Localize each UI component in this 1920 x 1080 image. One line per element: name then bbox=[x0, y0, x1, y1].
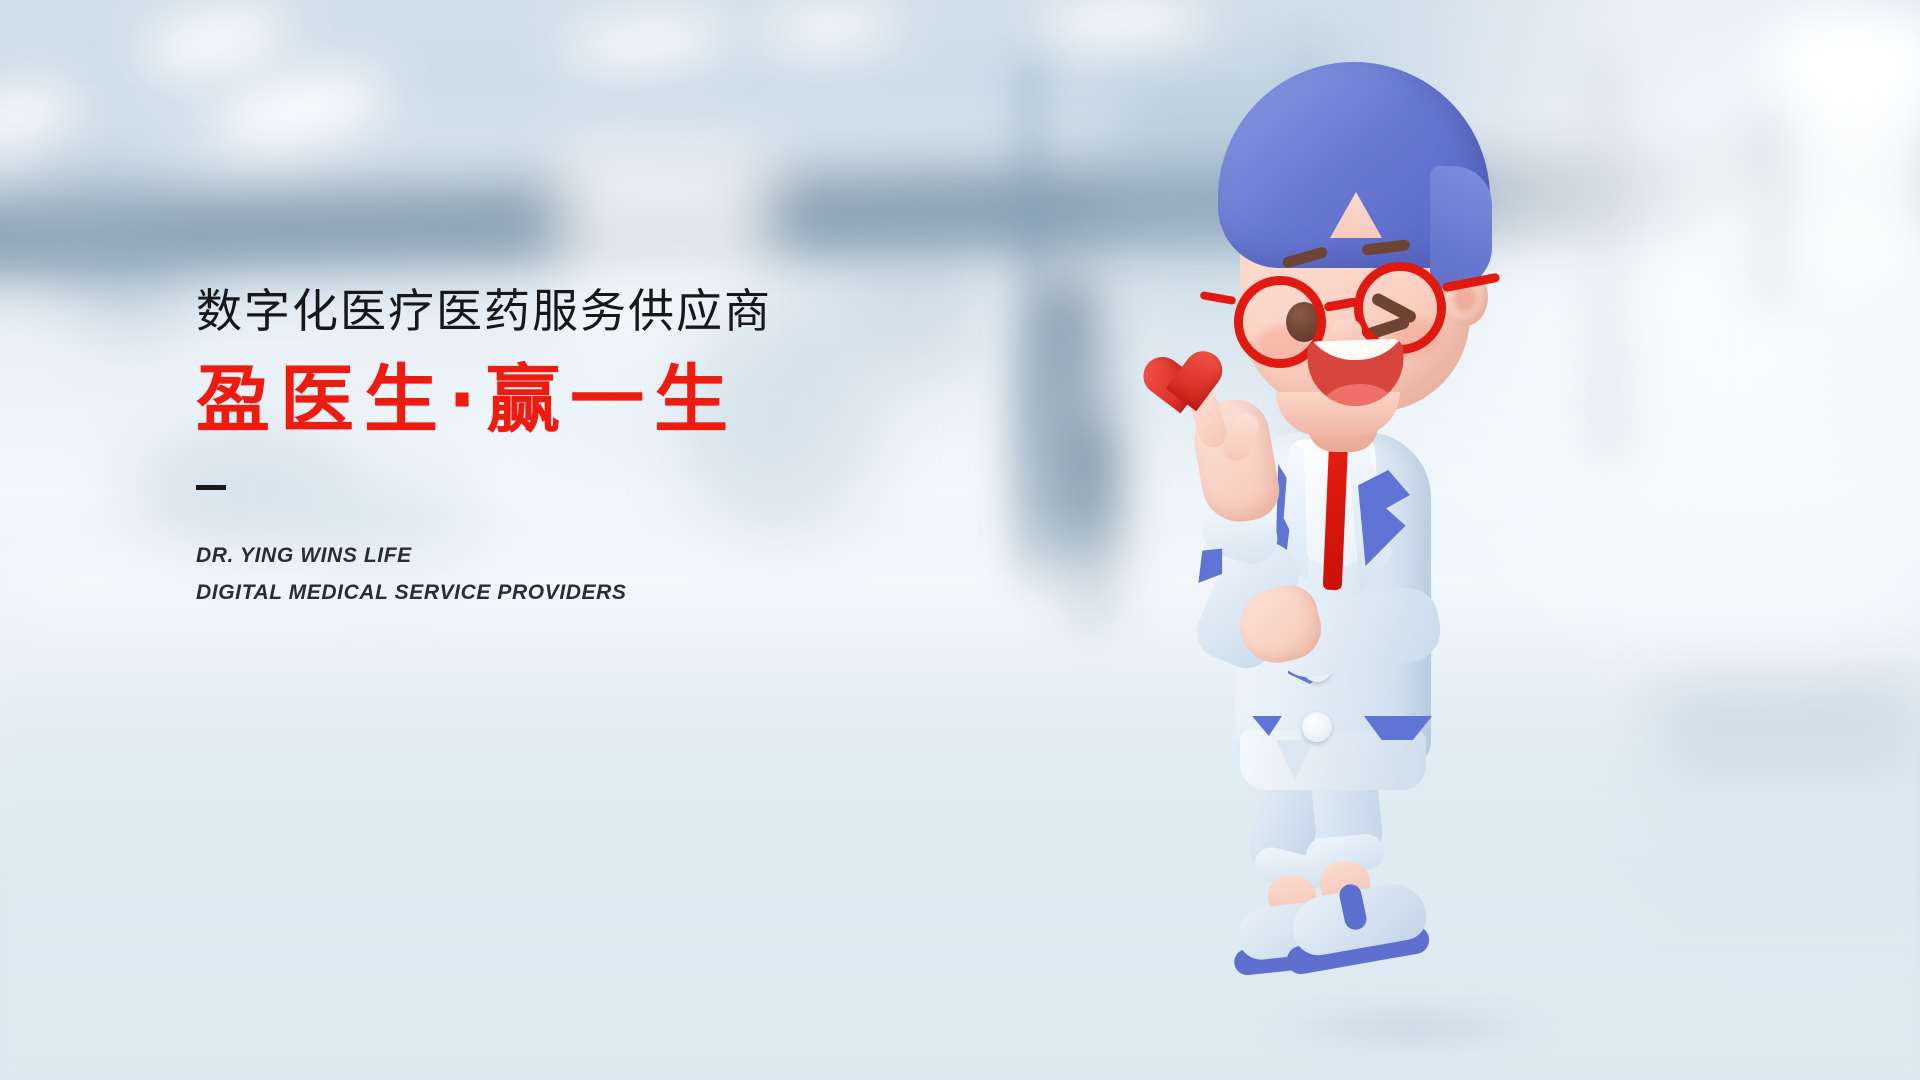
subtitle-en: DR. YING WINS LIFE DIGITAL MEDICAL SERVI… bbox=[196, 538, 1016, 610]
subtitle-line-1: DR. YING WINS LIFE bbox=[196, 538, 1016, 574]
background-person-head bbox=[1044, 258, 1090, 310]
divider-rule bbox=[196, 485, 226, 490]
banner-stage: 数字化医疗医药服务供应商 盈医生·赢一生 DR. YING WINS LIFE … bbox=[0, 0, 1920, 1080]
eyebrow-headline: 数字化医疗医药服务供应商 bbox=[196, 286, 1016, 337]
doctor-mascot bbox=[1180, 40, 1600, 1050]
page-title: 盈医生·赢一生 bbox=[196, 359, 1016, 442]
glasses-temple-right bbox=[1442, 273, 1501, 293]
subtitle-line-2: DIGITAL MEDICAL SERVICE PROVIDERS bbox=[196, 575, 1016, 611]
heart-icon bbox=[1158, 324, 1232, 395]
upper-teeth bbox=[1307, 338, 1405, 362]
copy-block: 数字化医疗医药服务供应商 盈医生·赢一生 DR. YING WINS LIFE … bbox=[196, 286, 1016, 611]
glasses-temple-left bbox=[1200, 291, 1237, 305]
shoe-front bbox=[1284, 880, 1436, 972]
background-blur-blob bbox=[72, 214, 192, 334]
floor-sheen bbox=[0, 660, 1920, 1080]
lab-coat-notch bbox=[1276, 740, 1314, 780]
tongue bbox=[1322, 383, 1393, 408]
coat-button bbox=[1302, 712, 1332, 742]
